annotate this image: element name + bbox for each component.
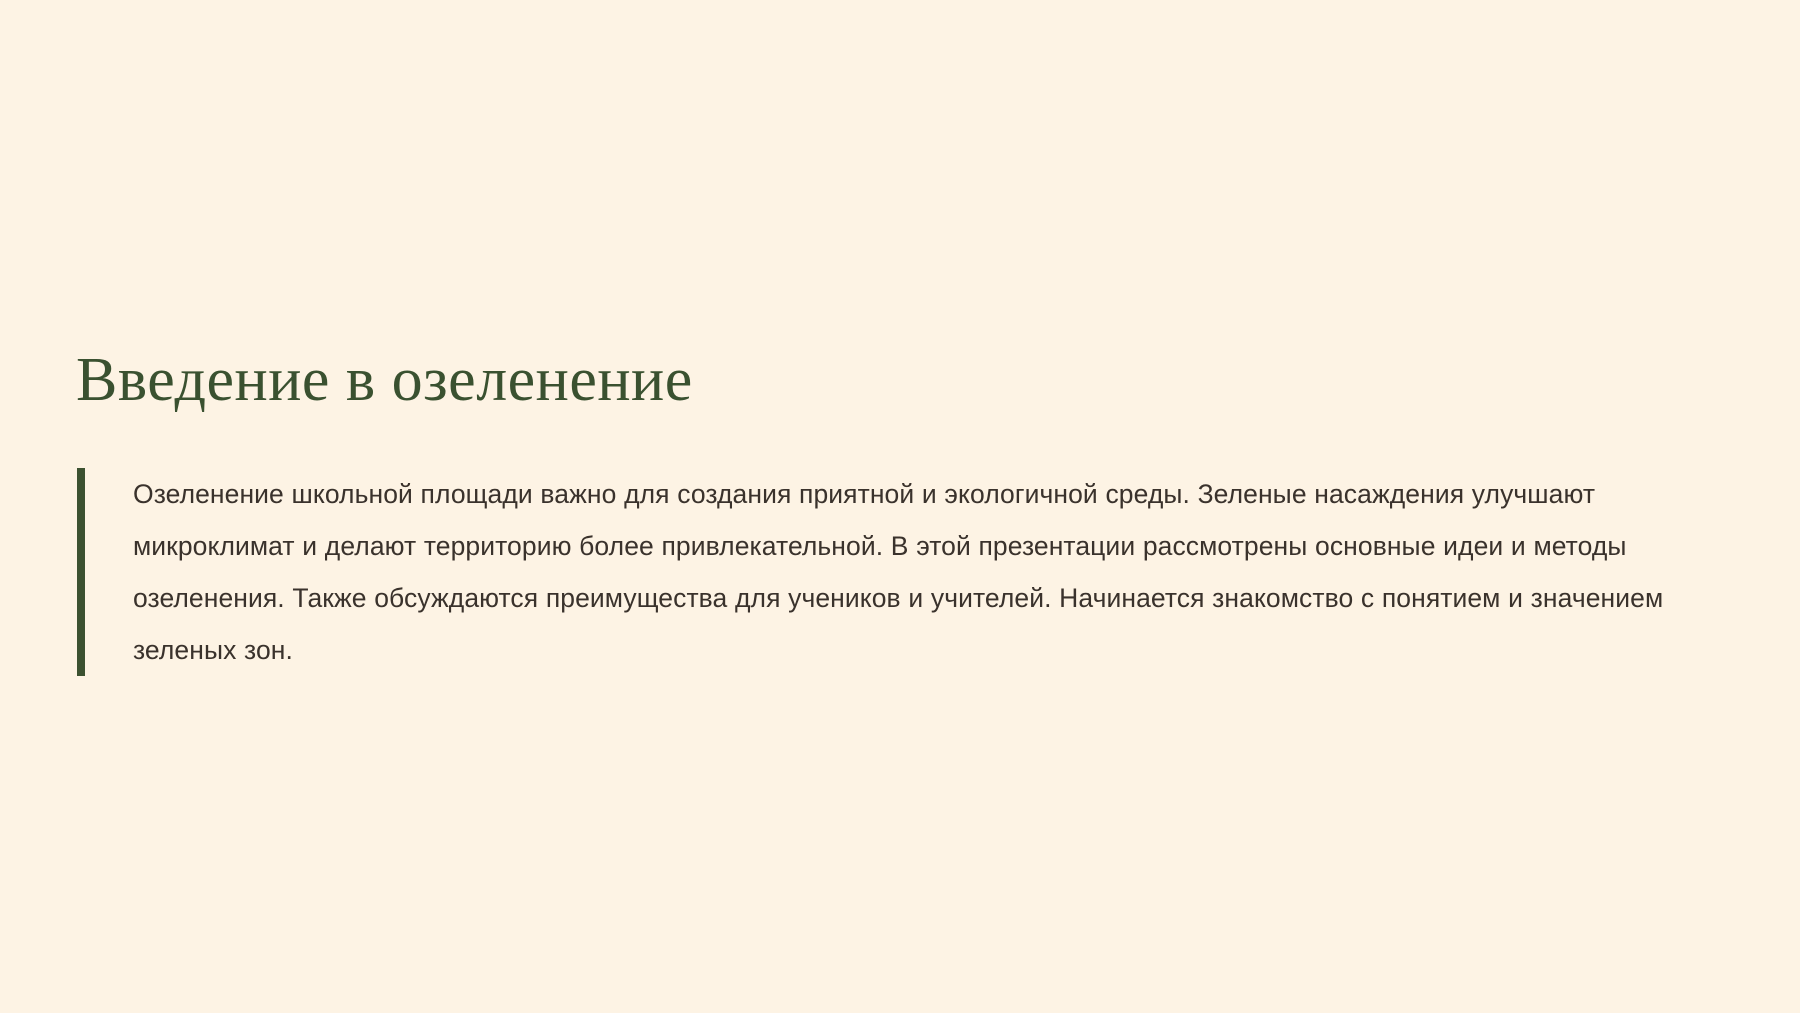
- accent-bar: [77, 468, 85, 676]
- slide-canvas: Введение в озеленение Озеленение школьно…: [0, 0, 1800, 1013]
- page-title: Введение в озеленение: [76, 344, 693, 416]
- body-callout: Озеленение школьной площади важно для со…: [77, 468, 1707, 676]
- body-paragraph: Озеленение школьной площади важно для со…: [85, 468, 1707, 676]
